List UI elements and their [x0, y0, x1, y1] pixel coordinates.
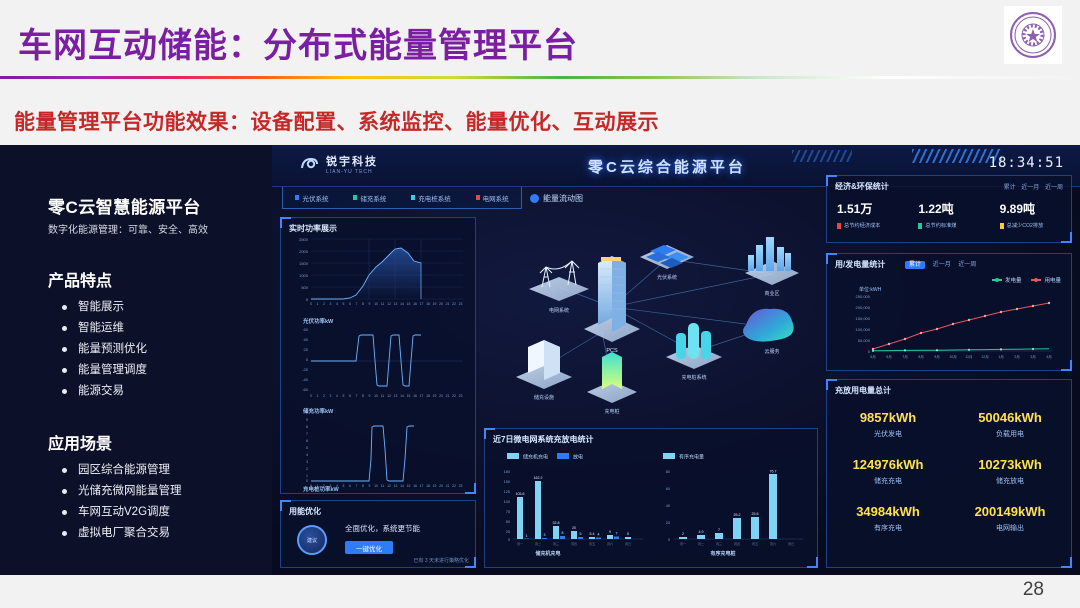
optimize-note: 已有 3 天未进行策略优化 — [413, 557, 469, 564]
svg-text:12月: 12月 — [981, 354, 989, 359]
svg-text:4月: 4月 — [1046, 354, 1052, 359]
eco-value: 9.89吨 — [1000, 200, 1071, 217]
legend-label: 储充机充电 — [523, 454, 548, 461]
svg-text:4: 4 — [336, 394, 338, 398]
svg-text:周一: 周一 — [680, 541, 686, 546]
status-dot-icon — [295, 195, 299, 200]
eco-item-co2: 9.89吨 总减少CO2排放 — [990, 200, 1071, 229]
svg-text:11: 11 — [381, 484, 385, 488]
brand-name-en: LIAN-YU TECH — [326, 169, 378, 175]
svg-text:125: 125 — [504, 490, 510, 494]
svg-text:60: 60 — [304, 327, 309, 332]
svg-text:9: 9 — [306, 418, 308, 422]
svg-text:2: 2 — [682, 532, 684, 536]
page-title: 车网互动储能：分布式能量管理平台 — [18, 18, 578, 67]
total-item-grid-output: 200149kWh 电网输出 — [949, 504, 1071, 533]
svg-text:2: 2 — [323, 394, 325, 398]
eco-value: 1.51万 — [837, 200, 908, 217]
svg-text:16: 16 — [413, 484, 417, 488]
svg-text:11: 11 — [381, 394, 385, 398]
svg-text:周日: 周日 — [625, 541, 631, 546]
svg-text:13: 13 — [394, 302, 398, 306]
list-item: 能量管理调度 — [62, 360, 147, 381]
svg-text:周五: 周五 — [752, 541, 758, 546]
svg-text:5.4: 5.4 — [590, 532, 595, 536]
tab-week[interactable]: 近一周 — [1045, 185, 1063, 191]
svg-text:23: 23 — [459, 394, 463, 398]
flow-node-charger-system[interactable]: 充电桩系统 — [666, 323, 722, 381]
svg-text:20: 20 — [666, 521, 670, 525]
axis-unit-label: 单位:kWH — [859, 286, 882, 293]
legend-consumption: 用电量 — [1031, 276, 1061, 284]
tab-storage-system[interactable]: 储充系统 — [353, 193, 386, 203]
svg-text:9: 9 — [609, 530, 611, 534]
flow-diagram-label: 能量流动图 — [530, 193, 583, 204]
eco-legend: 总节约经济成本 — [837, 222, 908, 229]
realtime-power-card: 实时功率展示 25002000 — [280, 217, 476, 494]
svg-text:5: 5 — [306, 446, 308, 450]
svg-text:20: 20 — [439, 484, 443, 488]
svg-text:周二: 周二 — [535, 541, 541, 546]
svg-text:18: 18 — [426, 484, 430, 488]
svg-text:7: 7 — [356, 394, 358, 398]
svg-text:22: 22 — [452, 394, 456, 398]
svg-text:9月: 9月 — [934, 354, 940, 359]
slide-footer: 28 — [0, 575, 1080, 608]
total-value: 200149kWh — [949, 504, 1071, 519]
svg-text:10: 10 — [374, 484, 378, 488]
svg-text:200,000: 200,000 — [856, 305, 871, 310]
svg-text:1: 1 — [317, 302, 319, 306]
svg-text:14: 14 — [400, 394, 404, 398]
svg-text:4: 4 — [306, 453, 308, 457]
total-value: 9857kWh — [827, 410, 949, 425]
page-number: 28 — [1023, 579, 1044, 601]
svg-text:3: 3 — [306, 460, 308, 464]
total-label: 储充放电 — [949, 476, 1071, 486]
card-title: 近7日微电网系统充放电统计 — [493, 434, 593, 445]
legend-line-icon — [992, 279, 1002, 281]
svg-text:7: 7 — [718, 528, 720, 532]
svg-text:3: 3 — [330, 394, 332, 398]
svg-text:40: 40 — [304, 337, 309, 342]
dashboard-screenshot: 零C云智慧能源平台 数字化能源管理：可靠、安全、高效 产品特点 智能展示 智能运… — [0, 145, 1080, 575]
svg-text:2: 2 — [306, 467, 308, 471]
svg-text:周一: 周一 — [517, 541, 523, 546]
svg-text:0: 0 — [306, 357, 309, 362]
svg-text:0: 0 — [508, 538, 510, 542]
svg-text:1000: 1000 — [299, 273, 309, 278]
card-title: 用/发电量统计 — [835, 259, 885, 270]
svg-text:50,000: 50,000 — [858, 338, 871, 343]
total-label: 储充充电 — [827, 476, 949, 486]
node-label: 光伏系统 — [657, 274, 677, 281]
svg-text:250,000: 250,000 — [856, 294, 871, 299]
total-item-ordered-charge: 34984kWh 有序充电 — [827, 504, 949, 533]
power-charts-svg: 25002000 15001000 5000 0123 4567 891011 … — [281, 233, 477, 495]
svg-text:6: 6 — [306, 439, 308, 443]
svg-text:20: 20 — [439, 302, 443, 306]
total-value: 50046kWh — [949, 410, 1071, 425]
list-item: 园区综合能源管理 — [62, 460, 182, 481]
svg-text:0: 0 — [306, 297, 309, 302]
svg-text:17: 17 — [420, 484, 424, 488]
energy-optimize-card: 用能优化 建议 全面优化，系统更节能 一键优化 已有 3 天未进行策略优化 — [280, 500, 476, 568]
svg-text:15: 15 — [407, 394, 411, 398]
list-item: 智能展示 — [62, 297, 147, 318]
svg-text:1: 1 — [526, 534, 528, 538]
svg-text:2: 2 — [323, 302, 325, 306]
svg-text:12: 12 — [387, 484, 391, 488]
svg-text:4.9: 4.9 — [699, 530, 704, 534]
svg-text:5: 5 — [343, 484, 345, 488]
svg-text:100: 100 — [504, 500, 510, 504]
university-seal-logo — [1004, 6, 1062, 64]
title-divider — [0, 76, 1080, 79]
svg-text:22: 22 — [452, 484, 456, 488]
svg-text:周五: 周五 — [589, 541, 595, 546]
svg-text:1月: 1月 — [998, 354, 1004, 359]
svg-text:21: 21 — [446, 302, 450, 306]
svg-text:3: 3 — [544, 533, 546, 537]
svg-text:105.6: 105.6 — [516, 492, 525, 496]
svg-text:22: 22 — [452, 302, 456, 306]
svg-text:6: 6 — [349, 302, 351, 306]
svg-text:5月: 5月 — [870, 354, 876, 359]
svg-text:15: 15 — [407, 484, 411, 488]
tab-charger-system[interactable]: 充电桩系统 — [411, 193, 451, 203]
optimize-button[interactable]: 一键优化 — [345, 541, 393, 554]
bars-svg: 储充机充电 放电 有序充电量 180150125 1007550 250 — [485, 449, 819, 567]
svg-text:40: 40 — [666, 504, 670, 508]
flow-node-charger[interactable]: 充电桩 — [587, 352, 637, 415]
svg-text:周二: 周二 — [698, 541, 704, 546]
weekly-charge-discharge-card: 近7日微电网系统充放电统计 储充机充电 放电 有序充电量 180150125 1… — [484, 428, 818, 568]
total-label: 有序充电 — [827, 523, 949, 533]
tab-cumulative[interactable]: 累计 — [905, 261, 925, 269]
svg-text:7: 7 — [356, 484, 358, 488]
svg-text:17: 17 — [420, 302, 424, 306]
svg-text:25.2: 25.2 — [734, 513, 741, 517]
svg-text:23: 23 — [459, 302, 463, 306]
company-logo-icon — [300, 155, 320, 173]
card-title: 充放用电量总计 — [835, 385, 891, 396]
economy-environment-card: 经济&环保统计 累计 近一月 近一周 1.51万 总节约经济成本 1.22吨 — [826, 175, 1072, 243]
axis-label: 有序充电桩 — [710, 550, 735, 557]
energy-line-svg: 单位:kWH 250,000200,000150,000 100,00050,0… — [827, 284, 1073, 372]
svg-text:9: 9 — [369, 302, 371, 306]
features-heading: 产品特点 — [48, 267, 112, 291]
tab-month[interactable]: 近一月 — [933, 262, 951, 268]
svg-text:10: 10 — [374, 302, 378, 306]
svg-text:周三: 周三 — [716, 541, 722, 546]
svg-text:16: 16 — [413, 302, 417, 306]
flow-diagram-svg: 电网系统 光伏系统 — [484, 217, 818, 422]
legend-label: 有序充电量 — [679, 454, 704, 461]
svg-text:5: 5 — [580, 532, 582, 536]
eco-tabs[interactable]: 累计 近一月 近一周 — [1000, 182, 1063, 191]
chart-sublabel: 储充功率kW — [302, 407, 334, 415]
clock-display: 18:34:51 — [989, 155, 1064, 171]
svg-text:14: 14 — [400, 484, 404, 488]
svg-text:4: 4 — [336, 302, 338, 306]
total-value: 124976kWh — [827, 457, 949, 472]
list-item: 车网互动V2G调度 — [62, 502, 182, 523]
magnifier-label: 建议 — [307, 537, 317, 544]
status-dot-icon — [411, 195, 415, 200]
dashboard-title: 零C云综合能源平台 — [588, 156, 746, 177]
tab-label: 充电桩系统 — [418, 193, 451, 203]
svg-text:6: 6 — [349, 394, 351, 398]
decor-slant-icon — [792, 150, 852, 162]
svg-text:0: 0 — [868, 349, 871, 354]
list-item: 智能运维 — [62, 318, 147, 339]
svg-text:16: 16 — [413, 394, 417, 398]
svg-text:19: 19 — [433, 394, 437, 398]
svg-text:8: 8 — [562, 531, 564, 535]
brand-name-cn: 锐宇科技 — [326, 153, 378, 169]
svg-text:周日: 周日 — [788, 541, 794, 546]
svg-text:18: 18 — [426, 394, 430, 398]
svg-text:9: 9 — [369, 394, 371, 398]
svg-text:500: 500 — [301, 285, 308, 290]
node-label: 云服务 — [764, 348, 779, 355]
svg-text:1500: 1500 — [299, 261, 309, 266]
svg-text:18: 18 — [426, 302, 430, 306]
eco-label: 总节约标准煤 — [925, 222, 956, 229]
svg-text:2000: 2000 — [299, 249, 309, 254]
tab-cumulative[interactable]: 累计 — [1004, 185, 1016, 191]
legend-line-icon — [1031, 279, 1041, 281]
list-item: 光储充微网能量管理 — [62, 481, 182, 502]
legend-label: 放电 — [573, 454, 583, 461]
svg-text:10: 10 — [374, 394, 378, 398]
energy-flow-diagram: 电网系统 光伏系统 — [484, 217, 818, 422]
scenarios-list: 园区综合能源管理 光储充微网能量管理 车网互动V2G调度 虚拟电厂聚合交易 — [62, 460, 182, 544]
svg-text:180: 180 — [504, 470, 510, 474]
total-item-storage-discharge: 10273kWh 储充放电 — [949, 457, 1071, 486]
svg-text:50: 50 — [506, 520, 510, 524]
svg-text:周六: 周六 — [770, 541, 776, 546]
svg-text:21: 21 — [446, 484, 450, 488]
svg-text:150: 150 — [504, 480, 510, 484]
eco-item-coal: 1.22吨 总节约标准煤 — [908, 200, 989, 229]
eco-values-row: 1.51万 总节约经济成本 1.22吨 总节约标准煤 9.89吨 — [827, 200, 1071, 229]
tab-pv-system[interactable]: 光伏系统 — [295, 193, 328, 203]
svg-text:75: 75 — [506, 510, 510, 514]
svg-text:32.8: 32.8 — [553, 521, 560, 525]
scenarios-heading: 应用场景 — [48, 430, 112, 454]
sidebar-panel: 零C云智慧能源平台 数字化能源管理：可靠、安全、高效 产品特点 智能展示 智能运… — [0, 145, 272, 575]
svg-text:162.2: 162.2 — [534, 476, 543, 480]
total-item-pv: 9857kWh 光伏发电 — [827, 410, 949, 439]
slide-header: 车网互动储能：分布式能量管理平台 能量管理平台功能效果：设备配置、系统监控、能量… — [0, 0, 1080, 145]
svg-text:3月: 3月 — [1030, 354, 1036, 359]
line-chart-legend: 发电量 用电量 — [992, 276, 1061, 284]
sidebar-title: 零C云智慧能源平台 — [48, 193, 201, 218]
svg-text:15: 15 — [407, 302, 411, 306]
svg-text:0: 0 — [668, 538, 670, 542]
svg-text:10月: 10月 — [949, 354, 957, 359]
svg-text:-20: -20 — [302, 367, 309, 372]
dashboard-main: 锐宇科技 LIAN-YU TECH 零C云综合能源平台 18:34:51 光伏系… — [272, 145, 1080, 575]
sidebar-subtitle: 数字化能源管理：可靠、安全、高效 — [48, 221, 208, 236]
card-title: 经济&环保统计 — [835, 181, 889, 192]
tab-month[interactable]: 近一月 — [1021, 185, 1039, 191]
svg-text:19: 19 — [433, 484, 437, 488]
list-item: 能量预测优化 — [62, 339, 147, 360]
svg-text:0: 0 — [310, 302, 312, 306]
svg-text:23: 23 — [459, 484, 463, 488]
total-label: 负载用电 — [949, 429, 1071, 439]
svg-text:8: 8 — [306, 425, 308, 429]
svg-text:11月: 11月 — [965, 354, 972, 359]
svg-text:7: 7 — [306, 432, 308, 436]
legend-swatch-icon — [1000, 223, 1004, 229]
slide-subtitle: 能量管理平台功能效果：设备配置、系统监控、能量优化、互动展示 — [14, 106, 659, 136]
seal-icon — [1007, 9, 1059, 61]
svg-text:0: 0 — [310, 394, 312, 398]
flow-node-pcs[interactable]: PCS — [584, 256, 640, 354]
eco-label: 总减少CO2排放 — [1007, 222, 1044, 229]
svg-text:4: 4 — [598, 533, 600, 537]
axis-label: 储充机充电 — [535, 550, 560, 557]
node-label: 充电桩 — [604, 408, 619, 415]
total-energy-card: 充放用电量总计 9857kWh 光伏发电 50046kWh 负载用电 12497… — [826, 379, 1072, 568]
svg-text:0: 0 — [306, 479, 308, 483]
svg-text:6: 6 — [349, 484, 351, 488]
legend-generation: 发电量 — [992, 276, 1022, 284]
svg-text:9: 9 — [369, 484, 371, 488]
svg-text:8: 8 — [362, 302, 364, 306]
eco-label: 总节约经济成本 — [844, 222, 880, 229]
chart-sublabel: 充电桩功率kW — [303, 485, 340, 493]
svg-text:7: 7 — [616, 532, 618, 536]
svg-text:7: 7 — [356, 302, 358, 306]
svg-text:1: 1 — [306, 474, 308, 478]
svg-text:1: 1 — [317, 394, 319, 398]
svg-text:17: 17 — [420, 394, 424, 398]
svg-text:11: 11 — [381, 302, 385, 306]
total-item-storage-charge: 124976kWh 储充充电 — [827, 457, 949, 486]
flow-label-text: 能量流动图 — [543, 193, 583, 204]
tab-week[interactable]: 近一周 — [958, 262, 976, 268]
optimize-description: 全面优化，系统更节能 — [345, 523, 420, 534]
svg-text:周三: 周三 — [553, 541, 559, 546]
svg-text:13: 13 — [394, 394, 398, 398]
svg-text:2500: 2500 — [299, 237, 309, 242]
features-list: 智能展示 智能运维 能量预测优化 能量管理调度 能源交易 — [62, 297, 147, 402]
svg-text:13: 13 — [394, 484, 398, 488]
list-item: 能源交易 — [62, 381, 147, 402]
svg-text:76.7: 76.7 — [770, 470, 777, 474]
dashboard-nav-tabs: 光伏系统 储充系统 充电桩系统 电网系统 — [282, 187, 522, 209]
svg-text:12: 12 — [387, 394, 391, 398]
svg-text:100,000: 100,000 — [856, 327, 871, 332]
svg-text:5: 5 — [343, 394, 345, 398]
svg-text:3: 3 — [330, 302, 332, 306]
magnifier-icon: 建议 — [297, 525, 327, 555]
svg-text:25: 25 — [506, 530, 510, 534]
svg-text:25.6: 25.6 — [752, 512, 759, 516]
legend-swatch-icon — [918, 223, 922, 229]
tab-label: 光伏系统 — [302, 193, 328, 203]
svg-text:周四: 周四 — [571, 541, 577, 546]
svg-text:14: 14 — [400, 302, 404, 306]
svg-text:7月: 7月 — [902, 354, 908, 359]
brand-logo: 锐宇科技 LIAN-YU TECH — [300, 153, 378, 175]
svg-text:-60: -60 — [302, 387, 309, 392]
card-title: 用能优化 — [289, 506, 321, 517]
total-value: 34984kWh — [827, 504, 949, 519]
total-label: 电网输出 — [949, 523, 1071, 533]
svg-text:20: 20 — [304, 347, 309, 352]
eco-item-cost: 1.51万 总节约经济成本 — [827, 200, 908, 229]
flow-node-commercial[interactable]: 商业区 — [745, 237, 799, 297]
svg-text:8: 8 — [362, 484, 364, 488]
globe-icon — [530, 194, 539, 203]
list-item: 虚拟电厂聚合交易 — [62, 523, 182, 544]
svg-text:19: 19 — [433, 302, 437, 306]
total-values-grid: 9857kWh 光伏发电 50046kWh 负载用电 124976kWh 储充充… — [827, 410, 1071, 533]
chart-sublabel: 光伏功率kW — [302, 317, 334, 325]
svg-text:21: 21 — [446, 394, 450, 398]
svg-text:周六: 周六 — [607, 541, 613, 546]
flow-node-grid[interactable]: 电网系统 — [529, 261, 589, 314]
total-label: 光伏发电 — [827, 429, 949, 439]
tab-label: 电网系统 — [483, 193, 509, 203]
svg-text:150,000: 150,000 — [856, 316, 871, 321]
node-label: 电网系统 — [549, 307, 569, 314]
total-value: 10273kWh — [949, 457, 1071, 472]
svg-text:8: 8 — [362, 394, 364, 398]
svg-text:5: 5 — [343, 302, 345, 306]
eco-legend: 总节约标准煤 — [918, 222, 989, 229]
svg-text:8月: 8月 — [918, 354, 924, 359]
svg-text:60: 60 — [666, 487, 670, 491]
tab-grid-system[interactable]: 电网系统 — [476, 193, 509, 203]
svg-text:6月: 6月 — [886, 354, 892, 359]
svg-text:12: 12 — [387, 302, 391, 306]
energy-tabs[interactable]: 累计 近一月 近一周 — [905, 259, 982, 268]
energy-statistics-card: 用/发电量统计 累计 近一月 近一周 发电量 用电量 单位:kWH 250,00… — [826, 253, 1072, 371]
svg-text:20: 20 — [439, 394, 443, 398]
tab-label: 储充系统 — [360, 193, 386, 203]
svg-text:-40: -40 — [302, 377, 309, 382]
status-dot-icon — [353, 195, 357, 200]
node-label: 充电桩系统 — [681, 374, 706, 381]
flow-node-storage[interactable]: 储充设施 — [516, 340, 572, 401]
svg-text:5: 5 — [627, 532, 629, 536]
eco-legend: 总减少CO2排放 — [1000, 222, 1071, 229]
eco-value: 1.22吨 — [918, 200, 989, 217]
svg-text:80: 80 — [666, 470, 670, 474]
node-label: 商业区 — [764, 290, 779, 297]
legend-swatch-icon — [837, 223, 841, 229]
status-dot-icon — [476, 195, 480, 200]
total-item-load: 50046kWh 负载用电 — [949, 410, 1071, 439]
svg-text:周四: 周四 — [734, 541, 740, 546]
node-label: 储充设施 — [534, 394, 554, 401]
svg-text:20: 20 — [572, 526, 576, 530]
flow-node-cloud[interactable]: 云服务 — [743, 309, 794, 355]
svg-text:2月: 2月 — [1014, 354, 1020, 359]
